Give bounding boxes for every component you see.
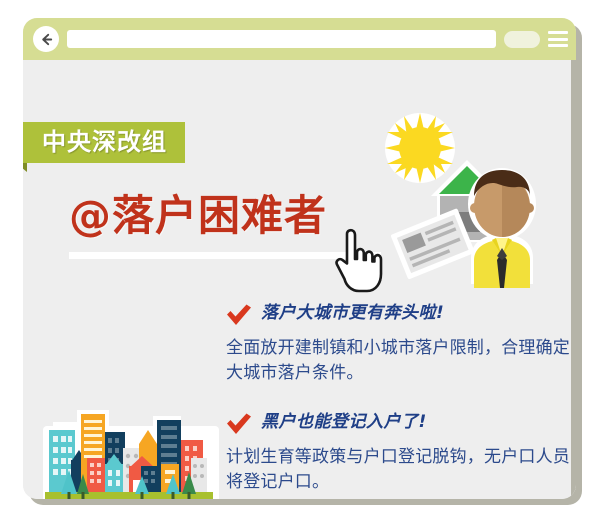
menu-line — [548, 38, 568, 41]
browser-window: @落户困难者 — [23, 18, 576, 499]
category-badge-label: 中央深改组 — [23, 122, 185, 163]
toolbar-pill-button[interactable] — [504, 31, 540, 48]
sun-icon — [385, 113, 455, 183]
browser-toolbar — [23, 18, 576, 60]
policy-points-list: 落户大城市更有奔头啦! 全面放开建制镇和小城市落户限制，合理确定大城市落户条件。… — [226, 303, 571, 499]
ribbon-fold — [23, 163, 27, 172]
scrollbar[interactable] — [571, 60, 576, 499]
list-item: 黑户也能登记入户了! 计划生育等政策与户口登记脱钩，无户口人员将登记户口。 — [226, 412, 571, 495]
point-body: 计划生育等政策与户口登记脱钩，无户口人员将登记户口。 — [226, 445, 571, 495]
red-checkmark-icon — [226, 304, 252, 331]
page-content: @落户困难者 — [23, 60, 576, 499]
menu-line — [548, 31, 568, 34]
screenshot-root: @落户困难者 — [0, 0, 600, 524]
address-bar-input[interactable] — [67, 30, 496, 48]
point-header: 黑户也能登记入户了! — [226, 412, 571, 440]
back-button[interactable] — [33, 26, 59, 52]
list-item: 落户大城市更有奔头啦! 全面放开建制镇和小城市落户限制，合理确定大城市落户条件。 — [226, 303, 571, 386]
person-avatar-icon — [468, 168, 536, 288]
menu-line — [548, 44, 568, 47]
page-title: @落户困难者 — [69, 182, 327, 243]
category-badge: 中央深改组 — [23, 122, 185, 163]
hamburger-menu-icon[interactable] — [548, 30, 568, 48]
point-body: 全面放开建制镇和小城市落户限制，合理确定大城市落户条件。 — [226, 336, 571, 386]
man-house-sun-id-card-illustration — [374, 108, 554, 288]
city-skyline-illustration — [35, 408, 225, 499]
point-title: 落户大城市更有奔头啦! — [261, 303, 444, 324]
point-header: 落户大城市更有奔头啦! — [226, 303, 571, 331]
point-title: 黑户也能登记入户了! — [261, 412, 427, 433]
back-arrow-icon — [39, 32, 54, 47]
pointing-hand-cursor-icon — [331, 228, 393, 301]
red-checkmark-icon — [226, 413, 252, 440]
